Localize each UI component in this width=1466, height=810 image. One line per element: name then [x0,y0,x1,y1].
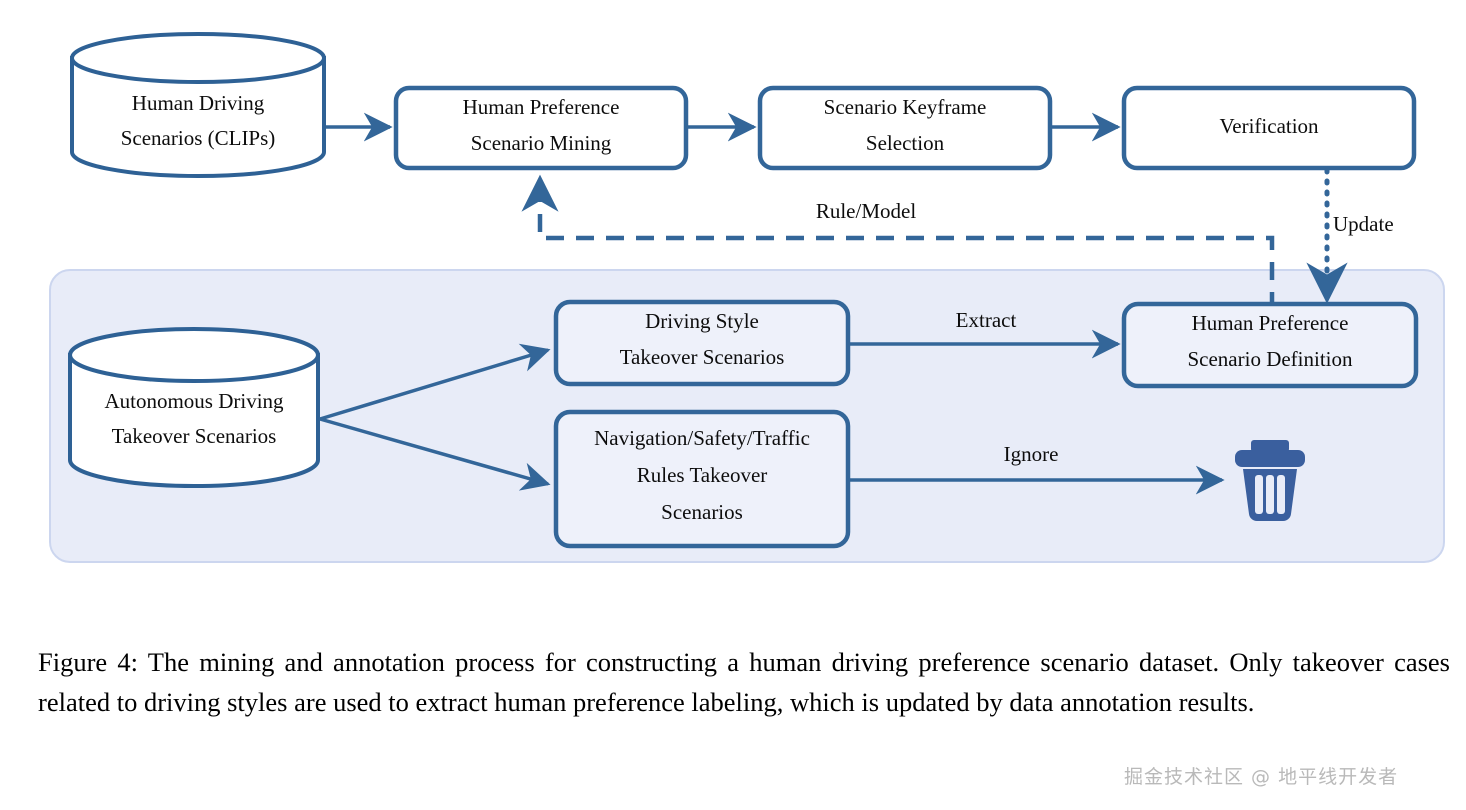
db-label-line2: Scenarios (CLIPs) [121,126,276,150]
watermark-text: 掘金技术社区 @ 地平线开发者 [1124,762,1398,789]
node-rules-takeover: Navigation/Safety/Traffic Rules Takeover… [556,412,848,546]
db-label-line1: Human Driving [132,91,265,115]
figure-caption: Figure 4: The mining and annotation proc… [38,642,1450,722]
autonomous-db-label-line2: Takeover Scenarios [112,424,277,448]
edge-label-extract: Extract [956,308,1017,332]
node-verification: Verification [1124,88,1414,168]
keyframe-label-line2: Selection [866,131,945,155]
keyframe-label-line1: Scenario Keyframe [824,95,987,119]
edge-label-ignore: Ignore [1004,442,1059,466]
verification-label: Verification [1219,114,1319,138]
rules-label-line1: Navigation/Safety/Traffic [594,426,810,450]
edge-label-rule-model: Rule/Model [816,199,916,223]
mining-label-line2: Scenario Mining [471,131,612,155]
process-diagram: Human Driving Scenarios (CLIPs) Human Pr… [0,0,1466,620]
node-scenario-keyframe-selection: Scenario Keyframe Selection [760,88,1050,168]
definition-label-line1: Human Preference [1192,311,1349,335]
figure-container: Human Driving Scenarios (CLIPs) Human Pr… [0,0,1466,810]
rules-label-line3: Scenarios [661,500,743,524]
driving-style-label-line1: Driving Style [645,309,759,333]
node-human-preference-scenario-mining: Human Preference Scenario Mining [396,88,686,168]
human-driving-scenarios-db: Human Driving Scenarios (CLIPs) [72,34,324,176]
edge-label-update: Update [1333,212,1394,236]
driving-style-label-line2: Takeover Scenarios [620,345,785,369]
definition-label-line2: Scenario Definition [1187,347,1353,371]
node-human-preference-scenario-definition: Human Preference Scenario Definition [1124,304,1416,386]
autonomous-driving-takeover-db: Autonomous Driving Takeover Scenarios [70,329,318,486]
node-driving-style-takeover: Driving Style Takeover Scenarios [556,302,848,384]
mining-label-line1: Human Preference [463,95,620,119]
autonomous-db-label-line1: Autonomous Driving [104,389,284,413]
rules-label-line2: Rules Takeover [637,463,768,487]
